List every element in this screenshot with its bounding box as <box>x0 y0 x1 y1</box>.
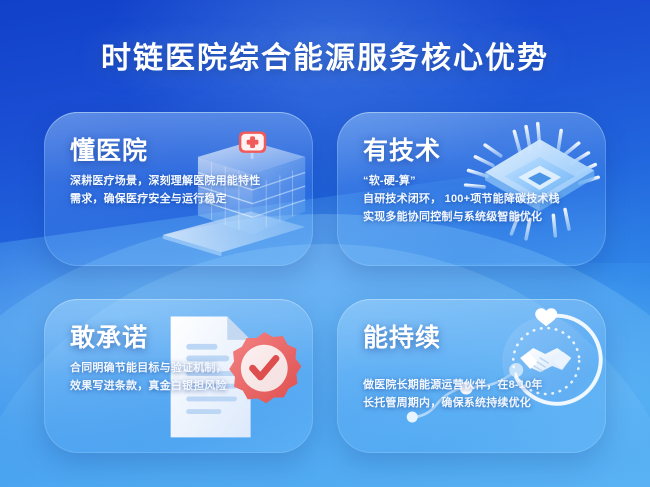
card-content: 有技术 “软-硬-算” 自研技术闭环， 100+项节能降碳技术栈 实现多能协同控… <box>337 112 606 266</box>
desc-line-1: 合同明确节能目标与验证机制， <box>70 362 227 374</box>
card-title: 有技术 <box>363 138 606 164</box>
card-title: 懂医院 <box>70 138 313 164</box>
card-description: 做医院长期能源运营伙伴，在8-10年 长托管周期内，确保系统持续优化 <box>363 377 599 413</box>
card-description: 深耕医疗场景，深刻理解医院用能特性 需求，确保医疗安全与运行稳定 <box>70 173 306 209</box>
desc-line-2: 需求，确保医疗安全与运行稳定 <box>70 193 227 205</box>
card-sustainable[interactable]: 能持续 做医院长期能源运营伙伴，在8-10年 长托管周期内，确保系统持续优化 <box>337 299 606 453</box>
desc-line-1: “软-硬-算” <box>363 173 599 191</box>
desc-line-2: 长托管周期内，确保系统持续优化 <box>363 397 531 409</box>
desc-line-1: 深耕医疗场景，深刻理解医院用能特性 <box>70 175 260 187</box>
desc-line-3: 实现多能协同控制与系统级智能优化 <box>363 211 542 223</box>
card-title: 敢承诺 <box>70 325 313 351</box>
card-dare-commit[interactable]: 敢承诺 合同明确节能目标与验证机制， 效果写进条款，真金白银担风险 <box>44 299 313 453</box>
desc-line-1: 做医院长期能源运营伙伴，在8-10年 <box>363 379 543 391</box>
desc-line-2: 自研技术闭环， 100+项节能降碳技术栈 <box>363 193 560 205</box>
card-title: 能持续 <box>363 325 606 351</box>
desc-line-2: 效果写进条款，真金白银担风险 <box>70 380 227 392</box>
card-have-technology[interactable]: 有技术 “软-硬-算” 自研技术闭环， 100+项节能降碳技术栈 实现多能协同控… <box>337 112 606 266</box>
advantage-card-grid: 懂医院 深耕医疗场景，深刻理解医院用能特性 需求，确保医疗安全与运行稳定 <box>44 112 606 457</box>
card-description: “软-硬-算” 自研技术闭环， 100+项节能降碳技术栈 实现多能协同控制与系统… <box>363 173 599 226</box>
card-understand-hospital[interactable]: 懂医院 深耕医疗场景，深刻理解医院用能特性 需求，确保医疗安全与运行稳定 <box>44 112 313 266</box>
page-title: 时链医院综合能源服务核心优势 <box>0 33 650 77</box>
card-content: 懂医院 深耕医疗场景，深刻理解医院用能特性 需求，确保医疗安全与运行稳定 <box>44 112 313 266</box>
card-content: 能持续 做医院长期能源运营伙伴，在8-10年 长托管周期内，确保系统持续优化 <box>337 299 606 453</box>
card-description: 合同明确节能目标与验证机制， 效果写进条款，真金白银担风险 <box>70 360 306 396</box>
card-content: 敢承诺 合同明确节能目标与验证机制， 效果写进条款，真金白银担风险 <box>44 299 313 453</box>
